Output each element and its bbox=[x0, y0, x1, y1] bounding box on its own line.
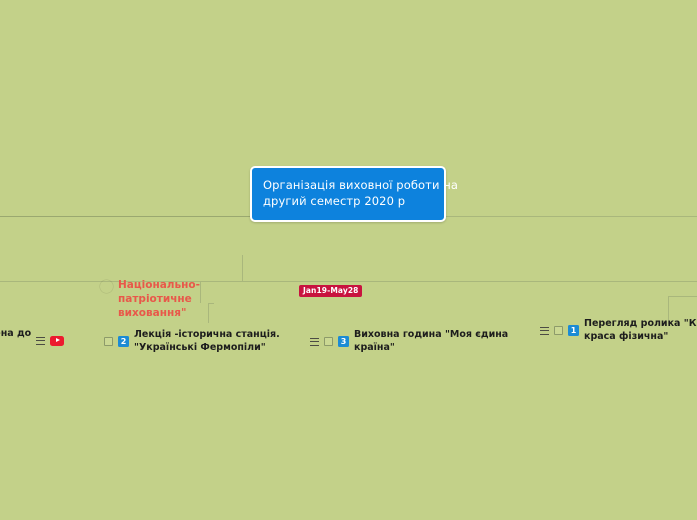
task-4-label: Перегляд ролика "К краса фізична" bbox=[584, 318, 696, 343]
task-3-line-1: Виховна година "Моя єдина bbox=[354, 329, 508, 342]
task-4-number-badge[interactable]: 1 bbox=[568, 325, 579, 336]
date-range-badge[interactable]: Jan19-May28 bbox=[299, 285, 362, 297]
task-2-checkbox[interactable] bbox=[104, 337, 113, 346]
task-2-label: Лекція -історична станція. "Українські Ф… bbox=[134, 329, 280, 354]
hamburger-icon[interactable] bbox=[310, 338, 319, 346]
connector-branch-right-elbow bbox=[668, 296, 697, 297]
task-2-line-1: Лекція -історична станція. bbox=[134, 329, 280, 342]
root-node[interactable]: Організація виховної роботи на другий се… bbox=[250, 166, 446, 222]
task-3-label: Виховна година "Моя єдина країна" bbox=[354, 329, 508, 354]
topic-label: Національно-патріотичне виховання" bbox=[118, 278, 268, 320]
root-node-line-1: Організація виховної роботи на bbox=[263, 177, 433, 193]
task-4-line-1: Перегляд ролика "К bbox=[584, 318, 696, 331]
task-row-1[interactable]: свячена до ни" bbox=[0, 328, 64, 353]
mindmap-canvas[interactable]: Організація виховної роботи на другий се… bbox=[0, 0, 697, 520]
task-4-line-2: краса фізична" bbox=[584, 331, 696, 344]
task-1-line-2: ни" bbox=[0, 341, 31, 354]
task-4-checkbox[interactable] bbox=[554, 326, 563, 335]
task-row-4[interactable]: 1 Перегляд ролика "К краса фізична" bbox=[540, 318, 696, 343]
connector-topic-rail-right bbox=[200, 281, 697, 282]
root-node-line-2: другий семестр 2020 р bbox=[263, 193, 433, 209]
video-badge-icon[interactable] bbox=[50, 336, 64, 346]
hamburger-icon[interactable] bbox=[540, 327, 549, 335]
task-1-label: свячена до ни" bbox=[0, 328, 31, 353]
connector-trunk-left bbox=[0, 216, 283, 217]
task-3-line-2: країна" bbox=[354, 342, 508, 355]
task-2-line-2: "Українські Фермопіли" bbox=[134, 342, 280, 355]
task-row-2[interactable]: 2 Лекція -історична станція. "Українські… bbox=[104, 329, 280, 354]
task-3-number-badge[interactable]: 3 bbox=[338, 336, 349, 347]
topic-node[interactable]: Національно-патріотичне виховання" bbox=[100, 278, 268, 320]
hamburger-icon[interactable] bbox=[36, 337, 45, 345]
task-row-3[interactable]: 3 Виховна година "Моя єдина країна" bbox=[310, 329, 508, 354]
ukraine-flag-icon bbox=[100, 280, 113, 293]
task-2-number-badge[interactable]: 2 bbox=[118, 336, 129, 347]
task-1-line-1: свячена до bbox=[0, 328, 31, 341]
task-3-checkbox[interactable] bbox=[324, 337, 333, 346]
topic-label-line-1: Національно-патріотичне bbox=[118, 278, 268, 306]
topic-label-line-2: виховання" bbox=[118, 306, 268, 320]
